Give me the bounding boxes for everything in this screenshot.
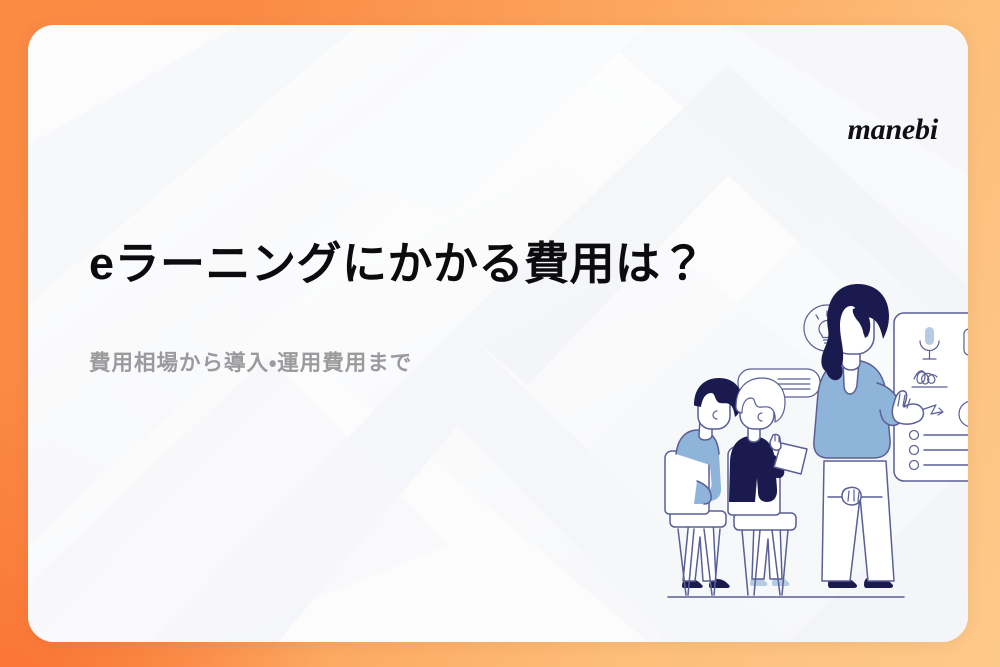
- slide-frame: manebi eラーニングにかかる費用は？ 費用相場から導入・運用費用まで .l…: [0, 0, 1000, 667]
- brand-logo: manebi: [848, 113, 938, 147]
- headline-block: eラーニングにかかる費用は？ 費用相場から導入・運用費用まで: [89, 237, 849, 378]
- page-title: eラーニングにかかる費用は？: [89, 237, 849, 290]
- page-subtitle: 費用相場から導入・運用費用まで: [89, 290, 849, 378]
- attendee-figure-2: [728, 378, 807, 595]
- slide-card: manebi eラーニングにかかる費用は？ 費用相場から導入・運用費用まで .l…: [28, 25, 968, 642]
